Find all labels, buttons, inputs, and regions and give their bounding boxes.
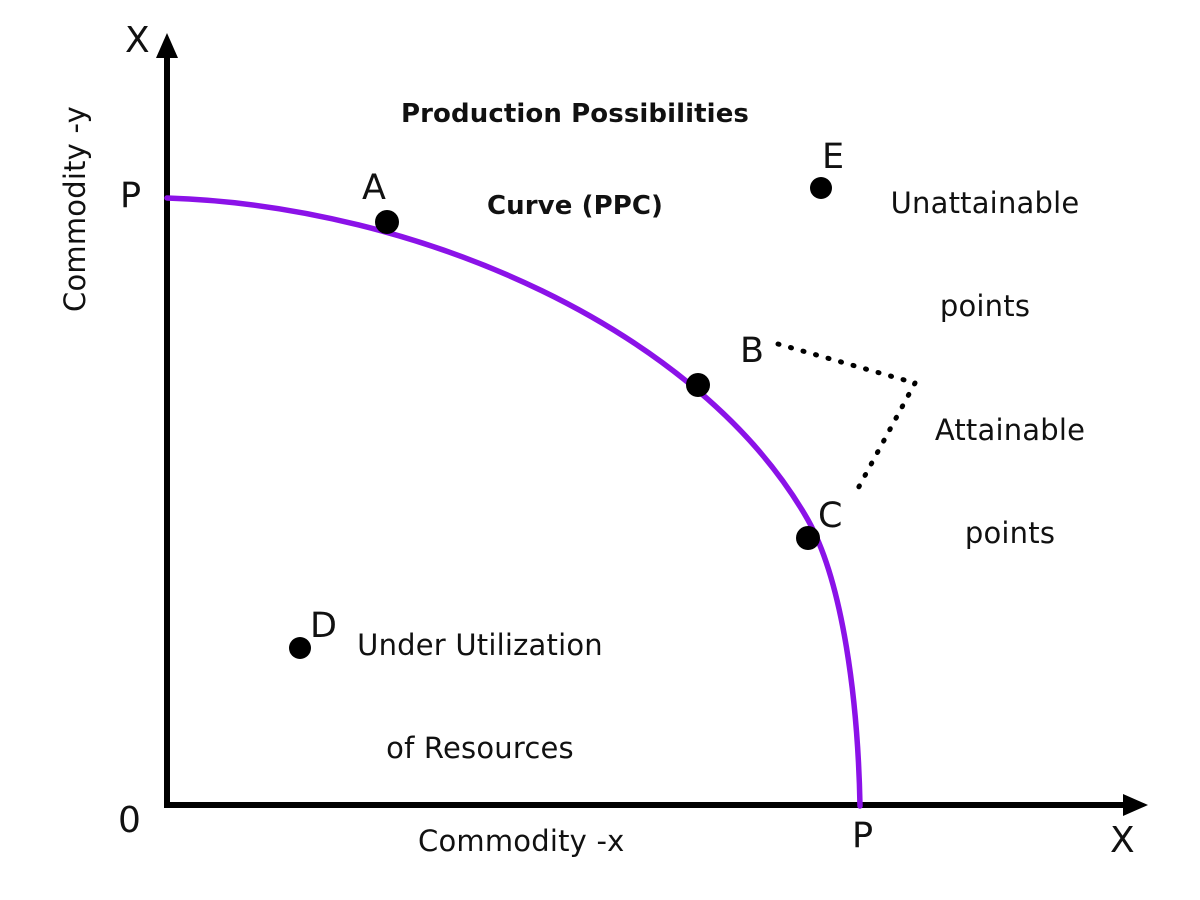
data-point-e[interactable] — [810, 177, 832, 199]
chart-title: Production Possibilities Curve (PPC) — [390, 38, 760, 283]
annotation-underutil-line-1: Under Utilization — [355, 628, 605, 662]
y-axis-title: Commodity -y — [58, 106, 92, 312]
point-label-e: E — [822, 137, 844, 178]
data-point-b[interactable] — [686, 373, 710, 397]
origin-label: 0 — [118, 800, 141, 842]
annotation-attainable-points: Attainable points — [925, 345, 1095, 619]
y-axis-cap-label: X — [125, 20, 150, 62]
point-label-d: D — [310, 606, 337, 647]
x-axis-cap-label: X — [1110, 820, 1135, 862]
chart-title-line-2: Curve (PPC) — [390, 191, 760, 222]
annotation-under-utilization: Under Utilization of Resources — [355, 560, 605, 834]
annotation-underutil-line-2: of Resources — [355, 731, 605, 765]
ppc-diagram-canvas: Production Possibilities Curve (PPC) X X… — [0, 0, 1200, 900]
y-intercept-label-p: P — [120, 176, 141, 217]
point-label-a: A — [362, 168, 386, 209]
chart-title-line-1: Production Possibilities — [390, 99, 760, 130]
point-label-c: C — [818, 496, 843, 537]
data-point-c[interactable] — [796, 526, 820, 550]
annotation-unattainable-line-1: Unattainable — [880, 186, 1090, 220]
annotation-attainable-line-1: Attainable — [925, 413, 1095, 447]
x-axis — [164, 794, 1148, 816]
data-point-d[interactable] — [289, 637, 311, 659]
x-axis-arrowhead-icon — [1123, 794, 1148, 816]
y-axis-arrowhead-icon — [156, 33, 178, 58]
annotation-unattainable-line-2: points — [880, 289, 1090, 323]
point-label-b: B — [740, 331, 764, 372]
x-intercept-label-p: P — [852, 816, 873, 857]
y-axis — [156, 33, 178, 805]
annotation-attainable-line-2: points — [925, 516, 1095, 550]
attainable-connector-lower — [855, 383, 915, 494]
